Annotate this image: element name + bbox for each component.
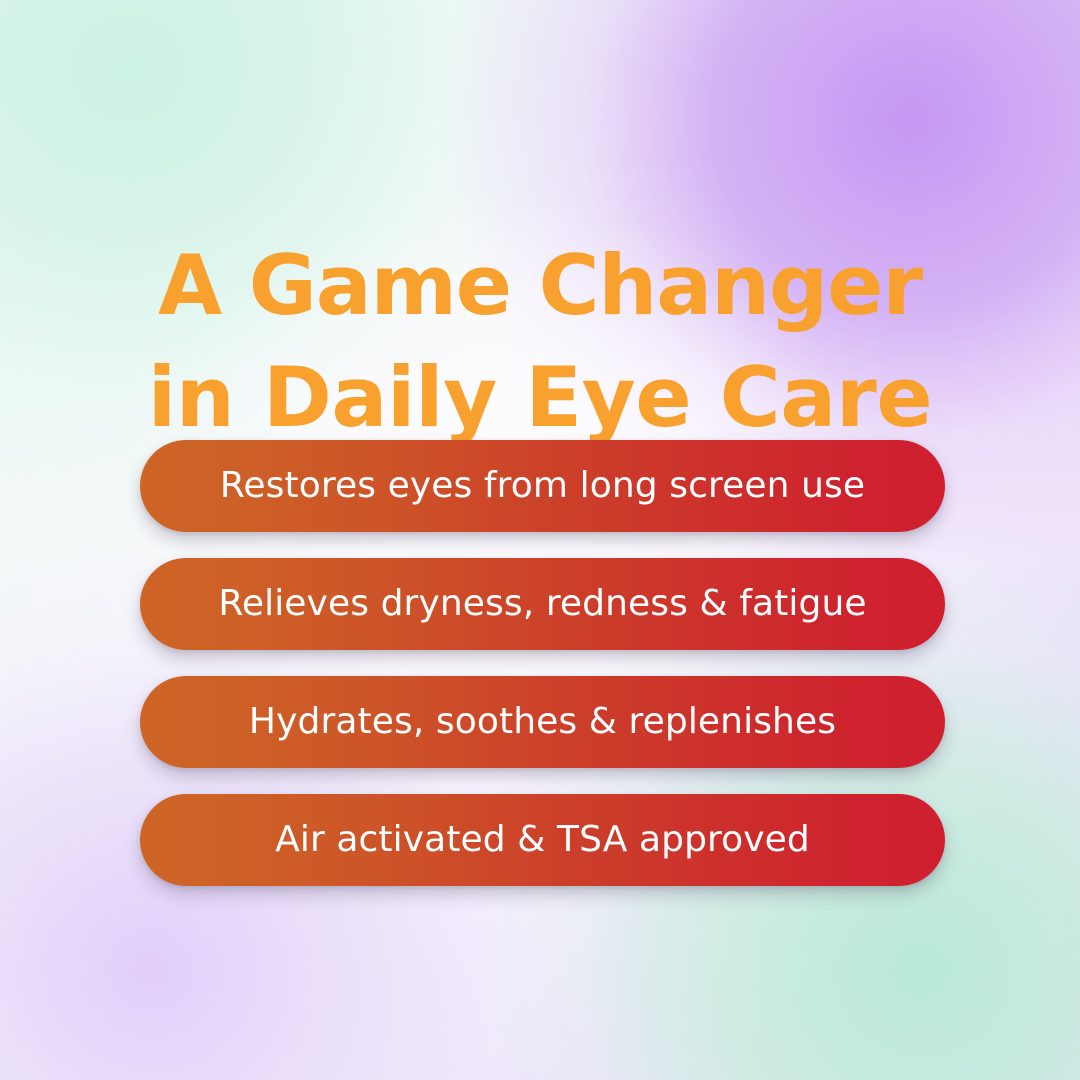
benefit-pill-4-label: Air activated & TSA approved (275, 822, 810, 858)
benefit-pill-2: Relieves dryness, redness & fatigue (140, 558, 945, 650)
benefit-pill-2-label: Relieves dryness, redness & fatigue (218, 586, 866, 622)
benefit-pill-1-label: Restores eyes from long screen use (220, 468, 865, 504)
poster-content: A Game Changer in Daily Eye Care Restore… (0, 0, 1080, 1080)
promo-poster: A Game Changer in Daily Eye Care Restore… (0, 0, 1080, 1080)
benefit-pill-4: Air activated & TSA approved (140, 794, 945, 886)
benefit-pill-3: Hydrates, soothes & replenishes (140, 676, 945, 768)
benefit-pill-3-label: Hydrates, soothes & replenishes (249, 704, 836, 740)
page-title: A Game Changer in Daily Eye Care (0, 230, 1080, 454)
headline-line-1: A Game Changer (0, 230, 1080, 342)
benefit-pill-1: Restores eyes from long screen use (140, 440, 945, 532)
headline-line-2: in Daily Eye Care (0, 342, 1080, 454)
benefit-list: Restores eyes from long screen use Relie… (140, 440, 945, 886)
